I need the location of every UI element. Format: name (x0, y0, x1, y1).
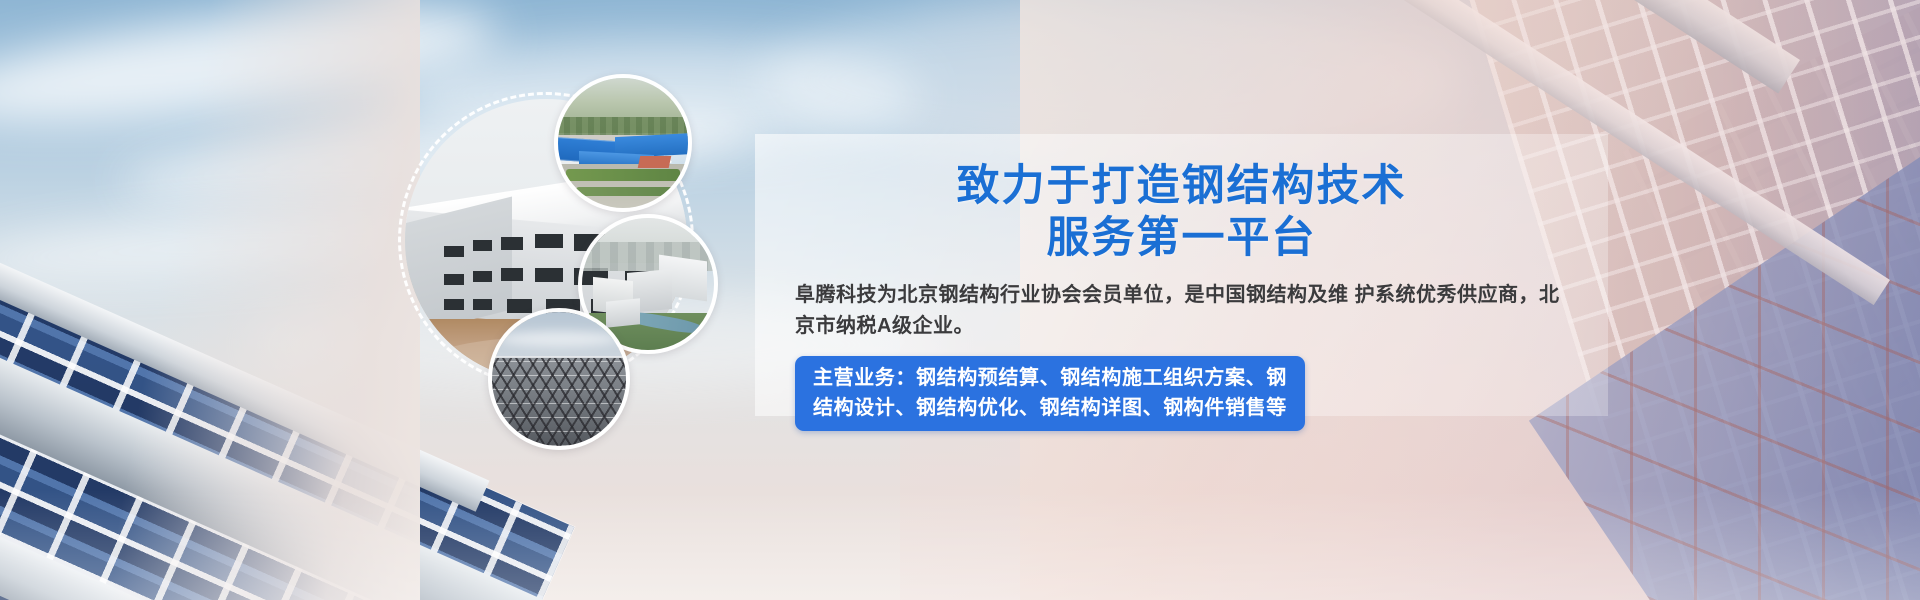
headline-line-2: 服务第一平台 (795, 212, 1568, 264)
headline-line-1: 致力于打造钢结构技术 (957, 161, 1407, 211)
services-badge: 主营业务：钢结构预结算、钢结构施工组织方案、钢 结构设计、钢结构优化、钢结构详图… (795, 356, 1305, 431)
photo-collage (0, 0, 780, 600)
badge-line-2: 结构设计、钢结构优化、钢结构详图、钢构件销售等 (813, 393, 1287, 423)
company-description: 阜腾科技为北京钢结构行业协会会员单位，是中国钢结构及维 护系统优秀供应商，北京市… (795, 280, 1568, 342)
badge-line-1: 主营业务：钢结构预结算、钢结构施工组织方案、钢 (813, 363, 1287, 393)
page-title: 致力于打造钢结构技术 服务第一平台 (795, 160, 1568, 264)
photo-steel-truss-structure (488, 308, 630, 450)
photo-blue-roof-industrial-park (554, 74, 692, 212)
description-line-1: 阜腾科技为北京钢结构行业协会会员单位，是中国钢结构及维 (795, 284, 1349, 306)
hero-banner: 致力于打造钢结构技术 服务第一平台 阜腾科技为北京钢结构行业协会会员单位，是中国… (0, 0, 1920, 600)
text-panel: 致力于打造钢结构技术 服务第一平台 阜腾科技为北京钢结构行业协会会员单位，是中国… (755, 134, 1608, 416)
